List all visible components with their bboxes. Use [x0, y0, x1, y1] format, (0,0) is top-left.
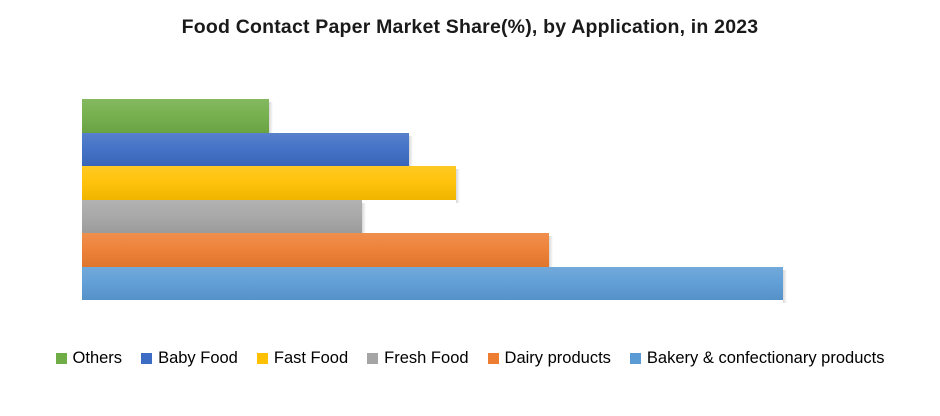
bar-row — [82, 99, 900, 133]
legend-swatch-icon — [630, 353, 641, 364]
legend-item[interactable]: Fast Food — [257, 350, 348, 367]
bar-fast-food — [82, 166, 456, 200]
legend-label: Baby Food — [158, 350, 238, 367]
bar-others — [82, 99, 269, 133]
legend-label: Fresh Food — [384, 350, 468, 367]
bar-gloss — [82, 200, 362, 234]
legend-item[interactable]: Bakery & confectionary products — [630, 350, 885, 367]
legend-item[interactable]: Others — [56, 350, 123, 367]
bar-fresh-food — [82, 200, 362, 234]
bar-row — [82, 166, 900, 200]
bar-baby-food — [82, 133, 409, 167]
legend-item[interactable]: Baby Food — [141, 350, 238, 367]
legend-swatch-icon — [488, 353, 499, 364]
legend-swatch-icon — [367, 353, 378, 364]
legend-label: Dairy products — [505, 350, 611, 367]
legend-swatch-icon — [141, 353, 152, 364]
legend-label: Bakery & confectionary products — [647, 350, 885, 367]
legend-swatch-icon — [257, 353, 268, 364]
bar-gloss — [82, 233, 549, 267]
legend-swatch-icon — [56, 353, 67, 364]
legend-label: Others — [73, 350, 123, 367]
bar-gloss — [82, 166, 456, 200]
chart-container: Food Contact Paper Market Share(%), by A… — [0, 0, 940, 416]
legend-item[interactable]: Dairy products — [488, 350, 611, 367]
bar-dairy-products — [82, 233, 549, 267]
legend-label: Fast Food — [274, 350, 348, 367]
plot-area — [82, 99, 900, 300]
bar-row — [82, 267, 900, 301]
bar-row — [82, 133, 900, 167]
bar-bakery-confectionary-products — [82, 267, 783, 301]
bar-gloss — [82, 267, 783, 301]
bar-row — [82, 233, 900, 267]
legend-item[interactable]: Fresh Food — [367, 350, 468, 367]
bar-gloss — [82, 133, 409, 167]
bar-row — [82, 200, 900, 234]
bar-gloss — [82, 99, 269, 133]
chart-title: Food Contact Paper Market Share(%), by A… — [0, 16, 940, 39]
chart-legend: OthersBaby FoodFast FoodFresh FoodDairy … — [0, 350, 940, 367]
